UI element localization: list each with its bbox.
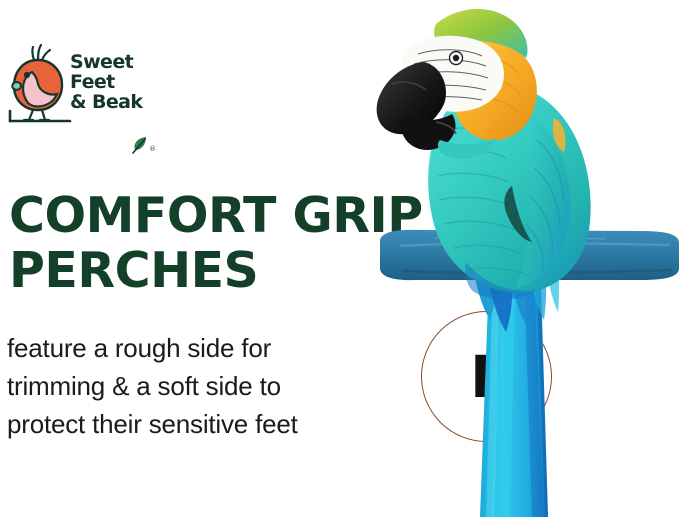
brand-wordmark-line-2: Feet xyxy=(70,72,170,92)
registered-trademark-symbol: ® xyxy=(149,145,156,153)
brand-wordmark-line-1: Sweet xyxy=(70,52,170,72)
macaw-on-perch-photo xyxy=(340,0,679,517)
product-banner: Sweet Feet & Beak ® COMFORT GRIP PERCHES… xyxy=(0,0,679,517)
brand-logo: Sweet Feet & Beak ® xyxy=(8,44,168,128)
leaf-icon xyxy=(132,136,148,154)
cockatiel-bird-icon xyxy=(8,44,72,128)
brand-wordmark: Sweet Feet & Beak xyxy=(70,52,170,112)
brand-wordmark-line-3: & Beak xyxy=(70,92,170,112)
